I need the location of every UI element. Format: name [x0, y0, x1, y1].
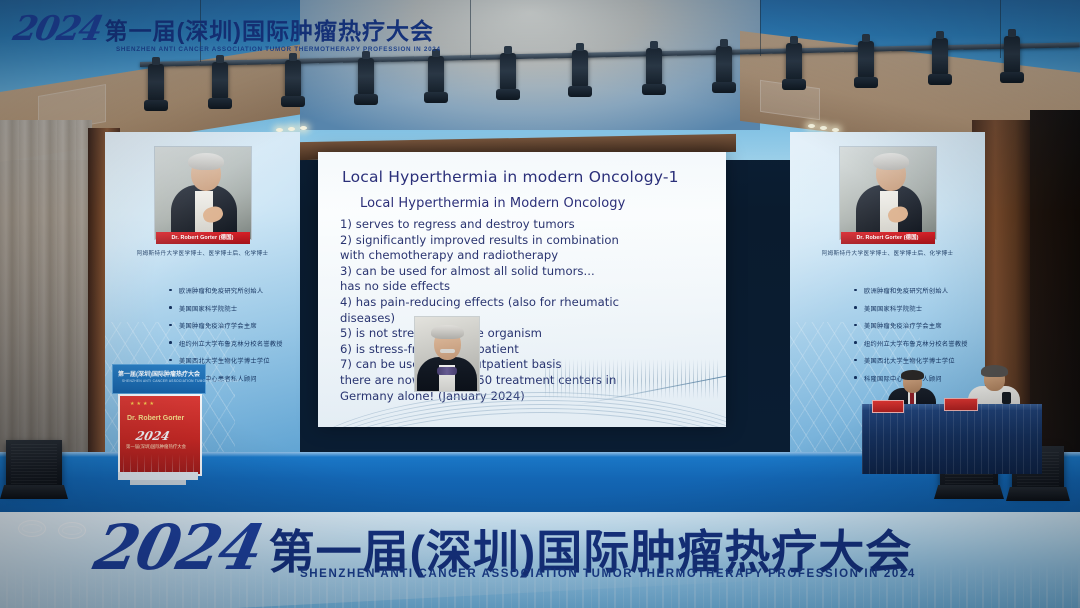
live-speaker-video-inset [414, 316, 480, 392]
watermark-brand-lockup: 2024 第一届(深圳)国际肿瘤热疗大会 [14, 14, 434, 44]
watermark-title-en: SHENZHEN ANTI CANCER ASSOCIATION TUMOR T… [116, 46, 441, 53]
stage-light [786, 43, 802, 83]
watermark-year: 2024 [11, 14, 104, 44]
stage-light [285, 60, 301, 100]
slide-line: with chemotherapy and radiotherapy [340, 249, 708, 263]
slide-line: 3) can be used for almost all solid tumo… [340, 265, 708, 279]
slide-line: 6) is stress-free for the patient [340, 343, 708, 357]
rollup-header-zh: 第一届(深圳)国际肿瘤热疗大会 [118, 369, 200, 378]
rollup-header-en: SHENZHEN ANTI CANCER ASSOCIATION TUMOR T… [122, 379, 242, 383]
banner-year: 2024 [90, 520, 266, 576]
stage-light [148, 64, 164, 104]
rollup-speaker-name: Dr. Robert Gorter [127, 415, 184, 422]
slide-line: 5) is not stressful for the organism [340, 327, 708, 341]
rollup-poster: ★★★★ Dr. Robert Gorter 2024 第一届(深圳)国际肿瘤热… [118, 394, 202, 476]
stage-light [212, 62, 228, 102]
stage-light [572, 50, 588, 90]
stage-light [858, 41, 874, 81]
stage-light [1004, 36, 1020, 76]
stage-monitor-speaker [6, 440, 62, 492]
floor-seal-logo [58, 522, 86, 539]
slide-line: has no side effects [340, 280, 708, 294]
stars-icon: ★★★★ [130, 401, 156, 407]
slide-line: 2) significantly improved results in com… [340, 234, 708, 248]
watermark-title-zh: 第一届(深圳)国际肿瘤热疗大会 [105, 19, 434, 44]
slide-title: Local Hyperthermia in modern Oncology-1 [342, 168, 679, 186]
watermark-logo: 2024 第一届(深圳)国际肿瘤热疗大会 [14, 14, 474, 60]
main-presentation-screen: Local Hyperthermia in modern Oncology-1 … [318, 152, 726, 427]
stage-light [428, 56, 444, 96]
stage-light [716, 46, 732, 86]
downlight [300, 126, 307, 130]
banner-title-en: SHENZHEN ANTI CANCER ASSOCIATION TUMOR T… [300, 568, 916, 580]
name-placard [872, 400, 904, 413]
stage-light [646, 48, 662, 88]
slide-line: 4) has pain-reducing effects (also for r… [340, 296, 708, 310]
slide-line: 1) serves to regress and destroy tumors [340, 218, 708, 232]
slide-line: diseases) [340, 312, 708, 326]
rollup-foot [118, 472, 198, 480]
phone-icon [1002, 392, 1011, 404]
conference-stage-photo: Dr. Robert Gorter (德国) 阿姆斯特丹大学医学博士、医学博士后… [0, 0, 1080, 608]
stage-light [932, 38, 948, 78]
rollup-base [130, 480, 186, 485]
stage-light [358, 58, 374, 98]
rollup-banner: 第一届(深圳)国际肿瘤热疗大会 SHENZHEN ANTI CANCER ASS… [112, 364, 204, 484]
curtain-shadow [0, 120, 92, 465]
skyline-graphic [120, 454, 200, 474]
rollup-year: 2024 [135, 429, 171, 443]
panel-discussion-table [862, 404, 1042, 474]
stage-light [500, 53, 516, 93]
floor-seal-logo [18, 520, 46, 537]
name-placard [944, 398, 978, 411]
rollup-header: 第一届(深圳)国际肿瘤热疗大会 SHENZHEN ANTI CANCER ASS… [112, 364, 206, 394]
downlight [820, 126, 827, 130]
truss-wire [1000, 0, 1001, 58]
truss-wire [760, 0, 761, 56]
slide-subtitle: Local Hyperthermia in Modern Oncology [360, 196, 625, 211]
rollup-subtitle: 第一届(深圳)国际肿瘤热疗大会 [126, 444, 186, 450]
bow-tie-icon [437, 367, 457, 375]
downlight [808, 124, 815, 128]
downlight [288, 127, 295, 131]
